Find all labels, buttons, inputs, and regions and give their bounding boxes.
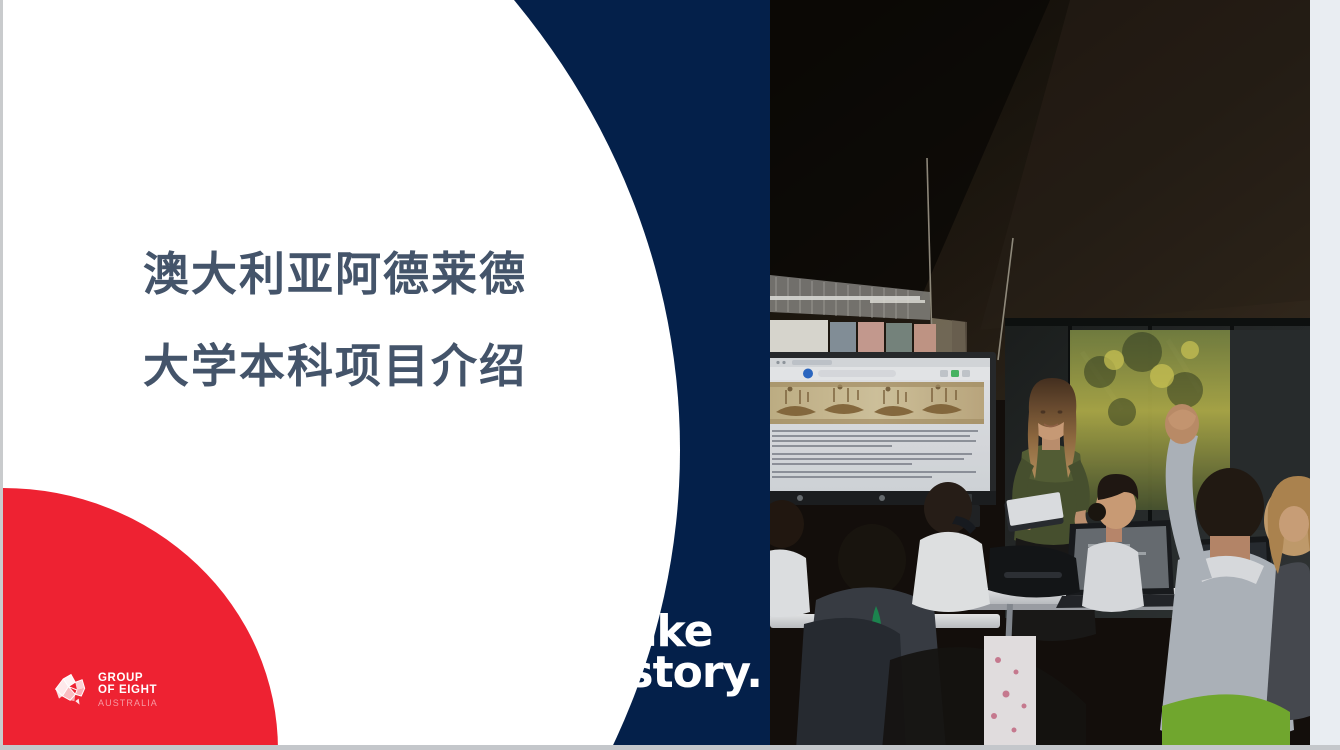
logo-line-3: AUSTRALIA xyxy=(98,699,158,708)
presentation-slide: 澳大利亚阿德莱德 大学本科项目介绍 make history. xyxy=(0,0,1340,750)
group-of-eight-logo: GROUP OF EIGHT AUSTRALIA xyxy=(52,672,158,708)
title-line-2: 大学本科项目介绍 xyxy=(143,320,613,412)
slide-left-border xyxy=(0,0,3,750)
slide-right-border xyxy=(1310,0,1340,750)
classroom-photo xyxy=(770,0,1310,750)
logo-line-1: GROUP xyxy=(98,673,158,685)
logo-wordmark: GROUP OF EIGHT AUSTRALIA xyxy=(98,673,158,708)
wordmark-line-2: history. xyxy=(583,653,762,694)
title-line-1: 澳大利亚阿德莱德 xyxy=(143,228,613,320)
australia-map-icon xyxy=(52,672,90,708)
logo-line-2: OF EIGHT xyxy=(98,685,158,697)
classroom-photo-illustration xyxy=(770,0,1310,750)
slide-bottom-border xyxy=(0,745,1340,750)
page-title: 澳大利亚阿德莱德 大学本科项目介绍 xyxy=(143,228,613,412)
make-history-wordmark: make history. xyxy=(583,612,762,694)
